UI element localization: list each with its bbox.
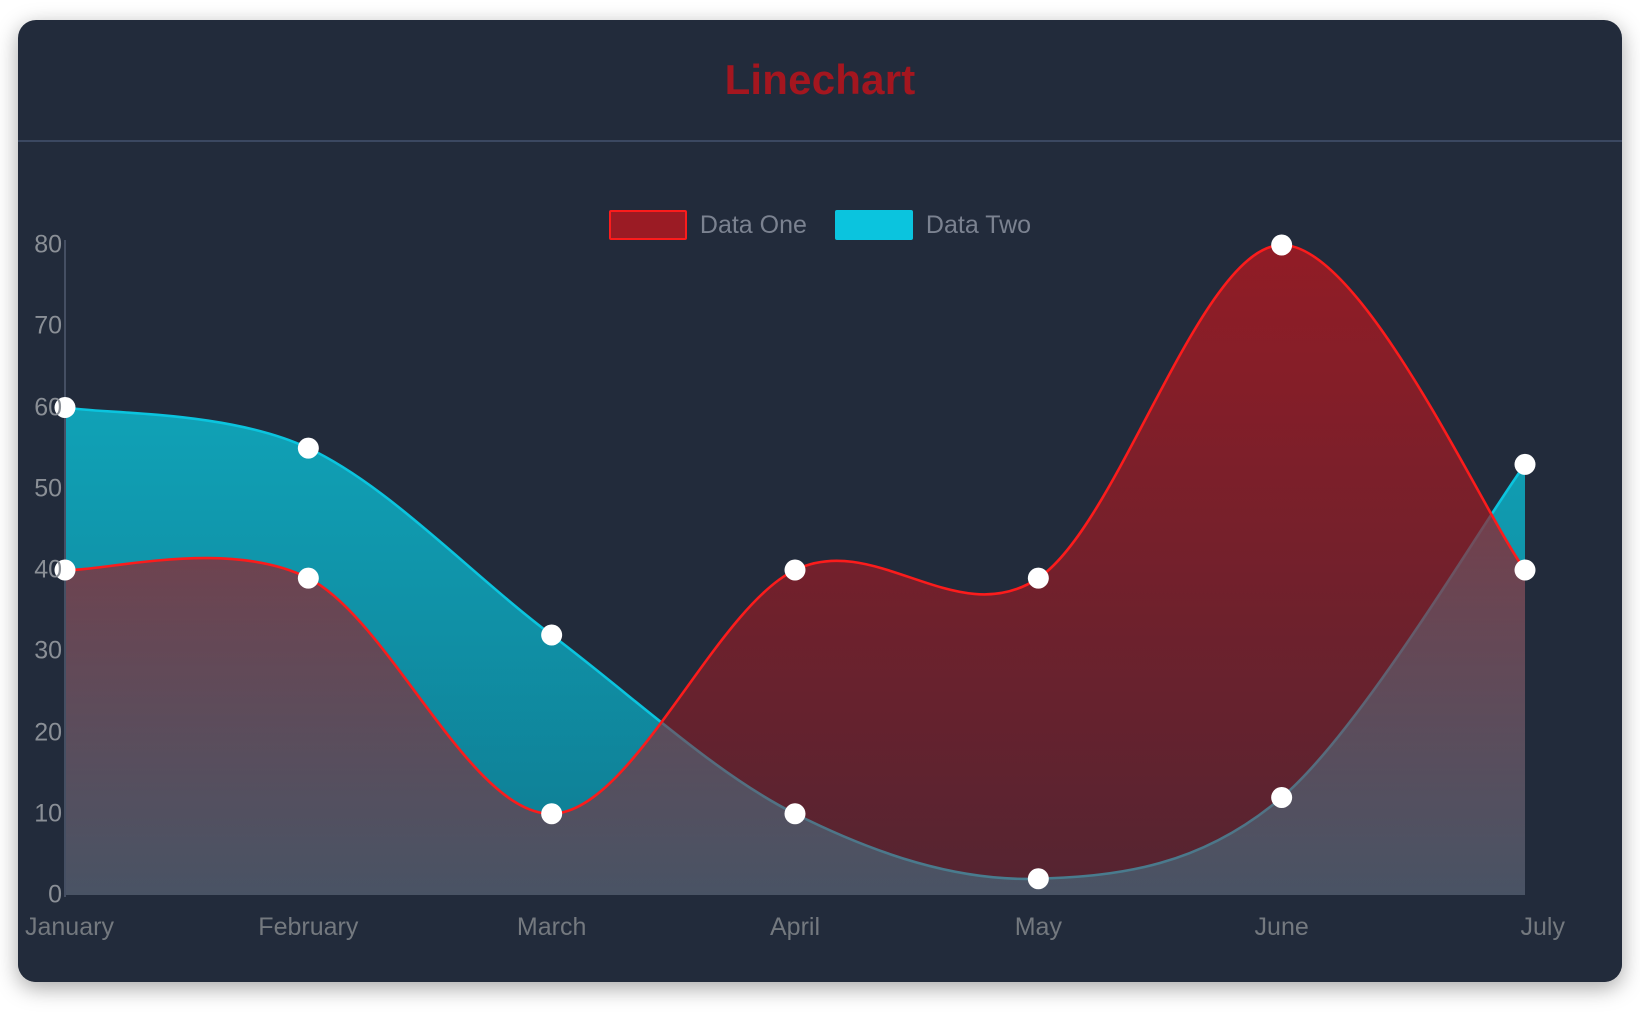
- chart-card: Linechart Data One Data Two: [18, 20, 1622, 982]
- point-data-two-2: [541, 625, 562, 646]
- point-data-one-3: [785, 560, 806, 581]
- y-tick-label-70: 70: [18, 312, 62, 341]
- y-tick-label-40: 40: [18, 556, 62, 585]
- x-tick-label-february: February: [258, 913, 358, 942]
- point-data-one-1: [298, 568, 319, 589]
- chart-svg: [18, 20, 1622, 982]
- x-tick-label-june: June: [1255, 913, 1309, 942]
- x-tick-label-may: May: [1015, 913, 1062, 942]
- point-data-one-6: [1515, 560, 1536, 581]
- point-data-one-4: [1028, 568, 1049, 589]
- y-tick-label-30: 30: [18, 637, 62, 666]
- y-tick-label-20: 20: [18, 718, 62, 747]
- point-data-two-1: [298, 438, 319, 459]
- point-data-one-2: [541, 803, 562, 824]
- point-data-two-6: [1515, 454, 1536, 475]
- y-tick-label-50: 50: [18, 474, 62, 503]
- x-tick-label-april: April: [770, 913, 820, 942]
- x-tick-label-july: July: [1521, 913, 1565, 942]
- y-tick-label-0: 0: [18, 881, 62, 910]
- x-tick-label-march: March: [517, 913, 586, 942]
- point-data-two-3: [785, 803, 806, 824]
- chart-plot-area[interactable]: 01020304050607080 JanuaryFebruaryMarchAp…: [18, 20, 1622, 982]
- point-data-one-5: [1271, 235, 1292, 256]
- y-tick-label-80: 80: [18, 231, 62, 260]
- point-data-two-5: [1271, 787, 1292, 808]
- point-data-two-4: [1028, 868, 1049, 889]
- y-tick-label-10: 10: [18, 799, 62, 828]
- x-tick-label-january: January: [25, 913, 114, 942]
- y-tick-label-60: 60: [18, 393, 62, 422]
